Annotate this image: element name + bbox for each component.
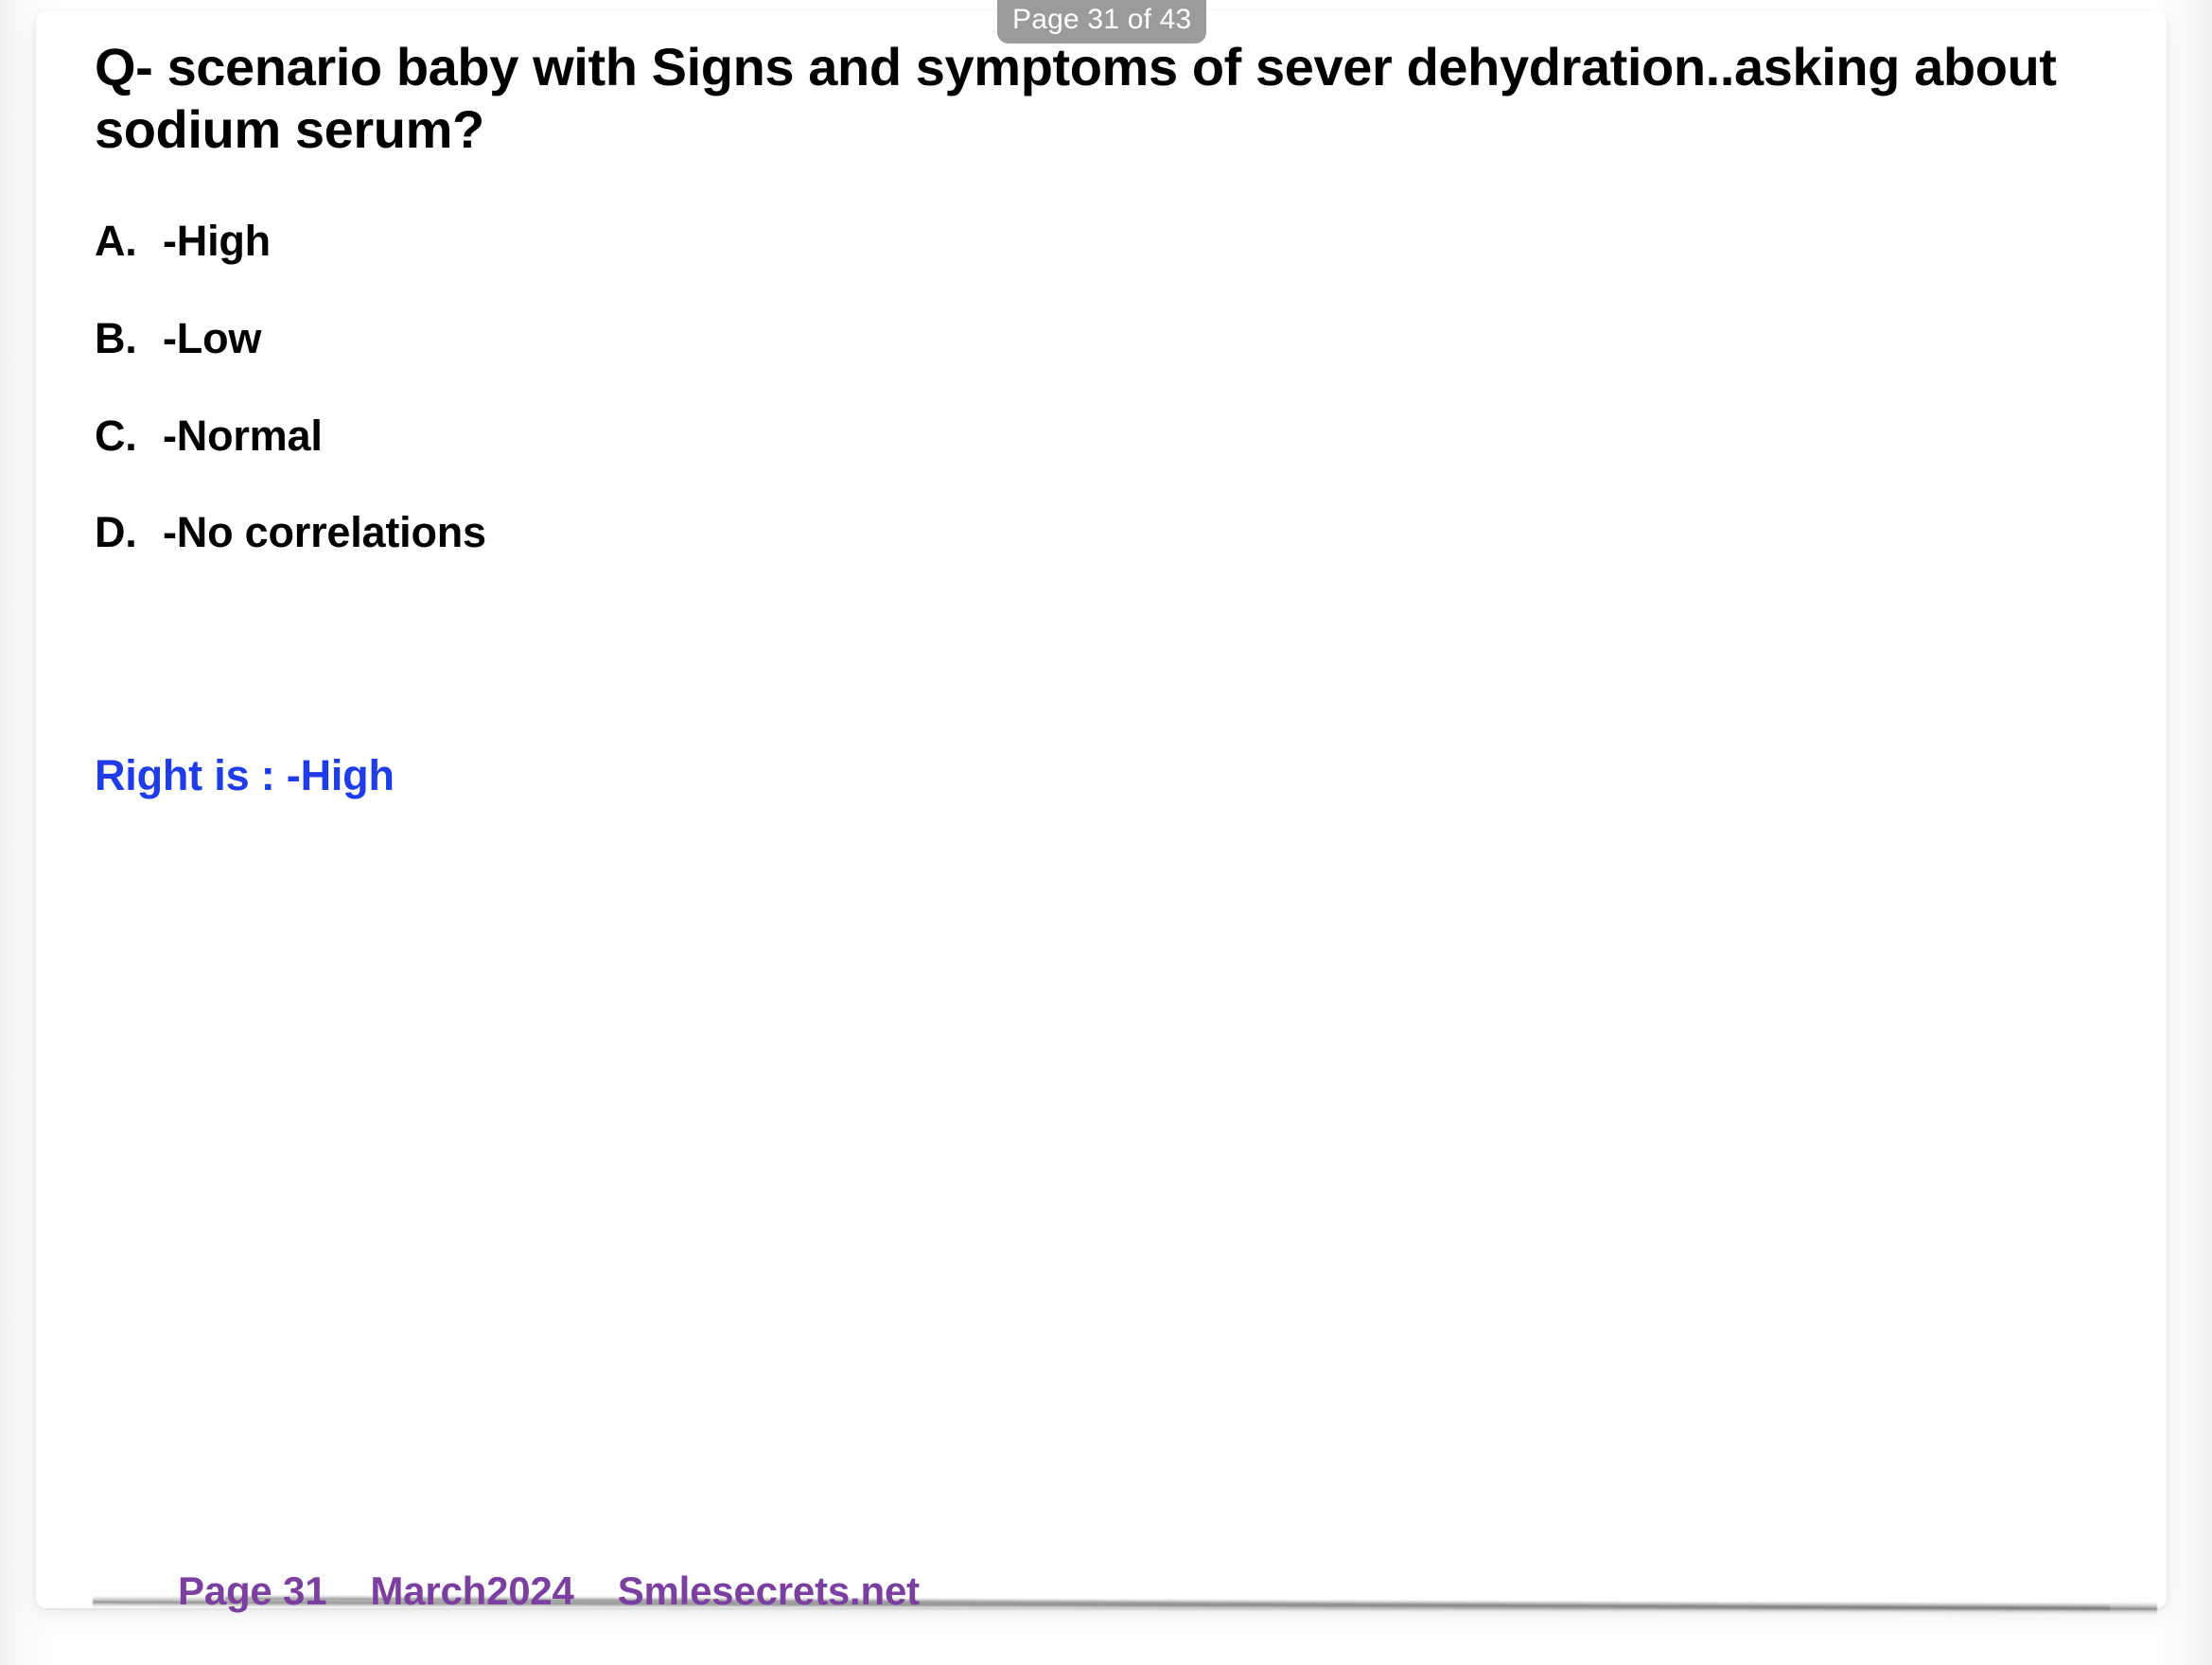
option-b[interactable]: B. -Low [95,314,2172,363]
question-title: Q- scenario baby with Signs and symptoms… [95,36,2148,160]
option-b-label: -Low [163,314,261,363]
slide-viewer: Q- scenario baby with Signs and symptoms… [0,0,2212,1665]
footer-page-label: Page 31 [178,1569,326,1614]
option-a-label: -High [163,217,271,266]
option-a-marker: A. [95,217,163,266]
option-d-label: -No correlations [163,508,486,557]
option-b-marker: B. [95,314,163,363]
option-c-label: -Normal [163,412,323,461]
correct-answer-text: Right is : -High [95,751,2172,800]
slide-footer: Page 31 March2024 Smlesecrets.net [178,1569,920,1614]
slide-page: Q- scenario baby with Signs and symptoms… [36,11,2167,1608]
slide-content: Q- scenario baby with Signs and symptoms… [95,36,2172,800]
option-d[interactable]: D. -No correlations [95,508,2172,557]
footer-date-label: March2024 [370,1569,573,1614]
footer-site-label: Smlesecrets.net [618,1569,920,1614]
answer-options-list: A. -High B. -Low C. -Normal D. -No corre… [95,217,2172,557]
option-c[interactable]: C. -Normal [95,412,2172,461]
option-a[interactable]: A. -High [95,217,2172,266]
option-c-marker: C. [95,412,163,461]
page-indicator-badge: Page 31 of 43 [997,0,1206,44]
option-d-marker: D. [95,508,163,557]
